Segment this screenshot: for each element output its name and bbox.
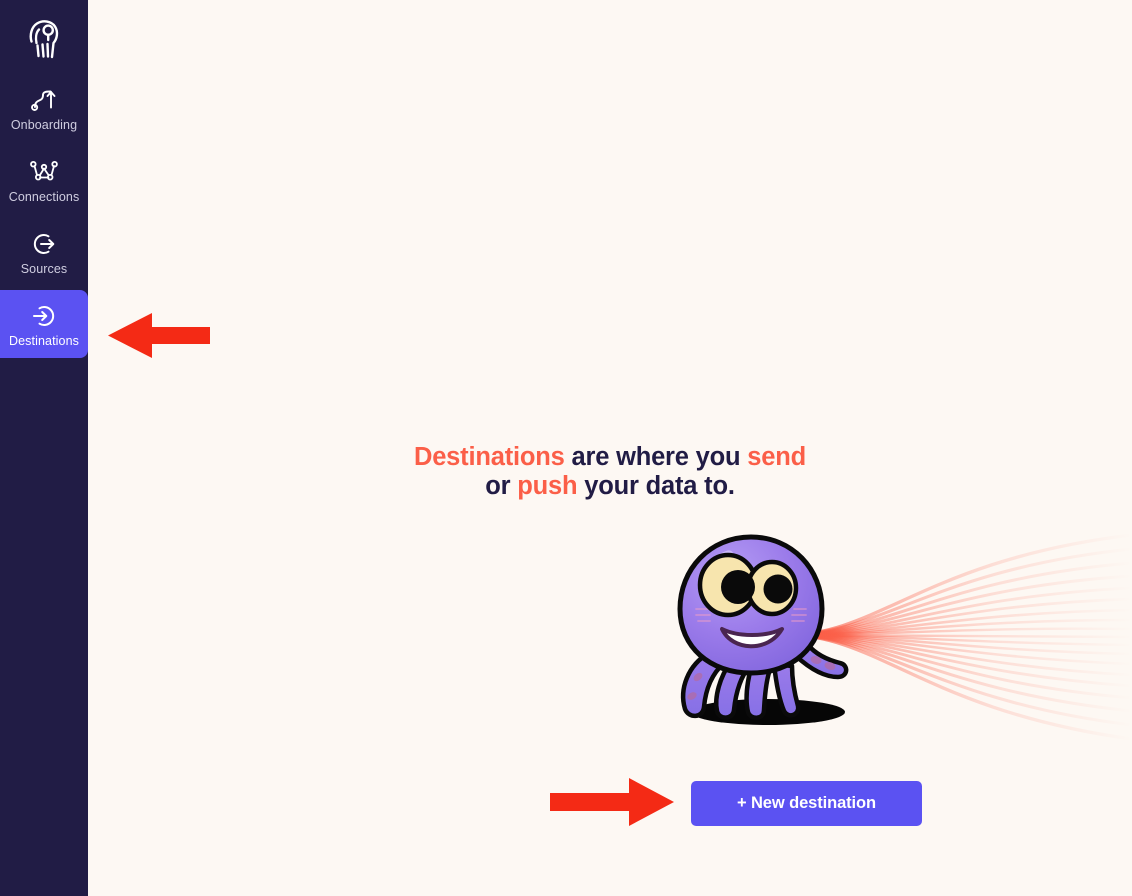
sidebar-item-label: Onboarding xyxy=(11,118,77,133)
main-content: Destinations are where you send or push … xyxy=(88,0,1132,896)
headline-push: push xyxy=(517,472,577,500)
sidebar-item-label: Sources xyxy=(21,262,68,277)
headline-text-1: are where you xyxy=(565,443,748,471)
path-arrow-icon xyxy=(30,85,58,115)
octopus-logo-icon xyxy=(23,15,65,59)
headline-text-3: your data to. xyxy=(577,472,734,500)
arrow-in-circle-icon xyxy=(30,301,58,331)
octopus-illustration xyxy=(648,525,1132,750)
sidebar-item-destinations[interactable]: Destinations xyxy=(0,290,88,358)
nodes-graph-icon xyxy=(28,157,60,187)
arrow-out-circle-icon xyxy=(30,229,58,259)
sidebar: Onboarding Connections xyxy=(0,0,88,896)
sidebar-item-onboarding[interactable]: Onboarding xyxy=(0,74,88,142)
app-logo[interactable] xyxy=(0,0,88,74)
new-destination-button[interactable]: + New destination xyxy=(691,781,922,826)
headline-send: send xyxy=(747,443,806,471)
page-headline: Destinations are where you send or push … xyxy=(88,443,1132,501)
arrow-pointing-to-destinations-nav xyxy=(108,312,210,365)
sidebar-item-connections[interactable]: Connections xyxy=(0,146,88,214)
arrow-pointing-to-new-destination-button xyxy=(550,775,674,834)
headline-text-2: or xyxy=(485,472,517,500)
octopus-eyes xyxy=(700,555,796,615)
headline-destinations: Destinations xyxy=(414,443,565,471)
sidebar-item-label: Connections xyxy=(9,190,80,205)
sidebar-item-sources[interactable]: Sources xyxy=(0,218,88,286)
sidebar-item-label: Destinations xyxy=(9,334,79,349)
